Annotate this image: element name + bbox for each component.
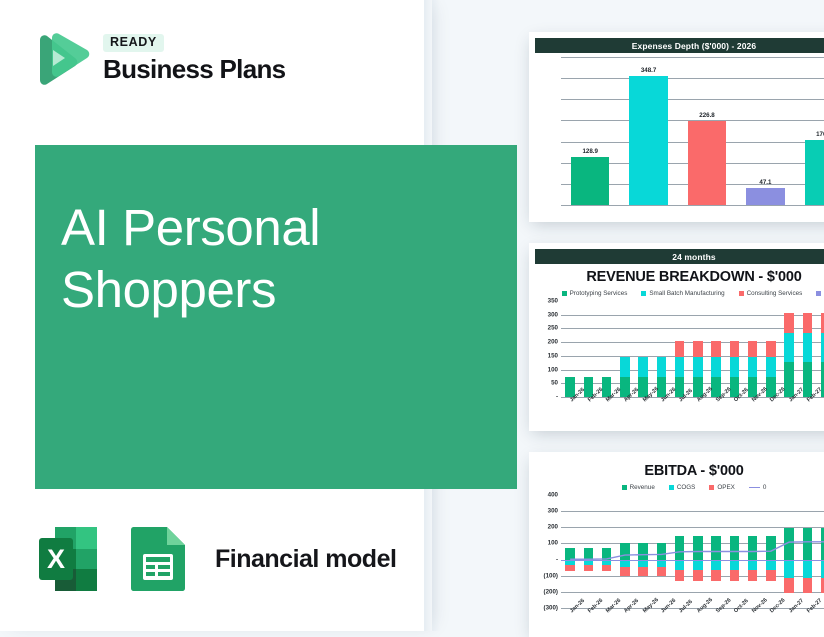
ready-badge: READY [103,34,164,52]
negative-stack [766,560,775,581]
bar-slot [744,301,762,397]
bar-segment [803,333,812,362]
chart-card-ebitda[interactable]: EBITDA - $'000 RevenueCOGSOPEX0 40030020… [529,452,824,637]
negative-stack [675,560,684,581]
bar-slot [817,301,824,397]
plot-area-expenses: 128.9348.7226.847.1176.5 [535,57,824,205]
legend-ebitda: RevenueCOGSOPEX0 [529,484,824,491]
bar-slot[interactable] [762,495,780,608]
legend-swatch [749,487,760,489]
gridline [561,205,824,206]
bar-segment [784,362,793,397]
bar-segment [730,536,739,559]
positive-stack [675,536,684,559]
bar-slot: 176.5 [795,57,824,205]
bar-segment [784,560,793,578]
bar-segment [784,578,793,593]
bar-slot [579,301,597,397]
y-axis-ebitda: 400300200100-(100)(200)(300) [535,495,561,608]
stacked-bar[interactable] [693,341,702,397]
negative-stack [657,560,666,576]
y-axis-tick: - [556,394,558,401]
legend-label: Prototyping Services [570,290,628,297]
positive-stack [748,536,757,559]
plot-area-revenue: 35030025020015010050- Jan-26Feb-26Mar-26… [535,301,824,397]
legend-item[interactable]: Small Batch Manufacturing [641,290,724,297]
bar-value-label: 348.7 [641,67,656,74]
financial-model-label: Financial model [215,545,396,574]
negative-stack [748,560,757,581]
bar-value-label: 176.5 [816,131,824,138]
bar-slot [798,301,816,397]
bar-segment [638,567,647,576]
chart-title-ebitda: EBITDA - $'000 [529,463,824,479]
brand-logo[interactable]: READY Business Plans [31,28,285,90]
legend-swatch [641,291,646,296]
bar-segment [693,357,702,377]
bar-segment [711,570,720,581]
bar-segment [657,357,666,377]
page-title: AI Personal Shoppers [61,197,501,321]
bar-segment [620,543,629,559]
bar-slot[interactable] [780,495,798,608]
svg-text:X: X [47,544,65,574]
bar-slot[interactable] [634,495,652,608]
bar-segment [711,341,720,357]
bar-slot [707,301,725,397]
bar-segment [784,528,793,559]
bar-segment [730,560,739,570]
bar-slot[interactable] [652,495,670,608]
bar-segment [748,536,757,559]
bar-slot[interactable] [671,495,689,608]
legend-revenue: Prototyping ServicesSmall Batch Manufact… [529,290,824,297]
y-axis-revenue: 35030025020015010050- [535,301,561,397]
bar-slot[interactable] [744,495,762,608]
bar-segment [638,357,647,377]
bar-segment [584,565,593,571]
bar-segment [766,536,775,559]
y-axis-tick: 50 [551,380,558,387]
positive-stack [584,548,593,560]
stacked-bar[interactable] [803,313,812,397]
positive-stack [620,543,629,559]
bar-segment [693,341,702,357]
positive-stack [693,536,702,559]
bar-slot: 226.8 [678,57,736,205]
bar-slot [762,301,780,397]
legend-swatch [709,485,714,490]
bar-slot[interactable] [817,495,824,608]
bar-segment [638,543,647,559]
bar-segment [748,357,757,377]
positive-stack [730,536,739,559]
positive-stack [565,548,574,560]
legend-item[interactable]: COGS [669,484,696,491]
bar-slot[interactable] [725,495,743,608]
legend-swatch [622,485,627,490]
bar-segment [620,567,629,576]
negative-stack [730,560,739,581]
bar-segment [730,341,739,357]
positive-stack [638,543,647,559]
stacked-bar[interactable] [675,341,684,397]
negative-stack [803,560,812,593]
bar-segment [657,567,666,576]
page-title-line2: Shoppers [61,259,501,321]
bar-slot [634,301,652,397]
bar-slot[interactable] [579,495,597,608]
positive-stack [784,528,793,559]
legend-swatch [669,485,674,490]
bar-segment [748,560,757,570]
hero-banner: AI Personal Shoppers [35,145,517,489]
negative-stack [565,560,574,572]
legend-item[interactable]: Consulting Services [739,290,803,297]
bar-slot [561,301,579,397]
bar-segment [620,357,629,377]
page-title-line1: AI Personal [61,197,501,259]
y-axis-tick: 150 [548,352,558,359]
legend-label: Consulting Services [747,290,803,297]
y-axis-tick: (200) [544,588,558,595]
bar-segment [748,341,757,357]
legend-item[interactable]: 0 [749,484,767,491]
bar[interactable]: 226.8 [688,121,727,205]
bar-slot: 47.1 [736,57,794,205]
legend-swatch [739,291,744,296]
x-axis-revenue: Jan-26Feb-26Mar-26Apr-26May-26Jun-26Jul-… [561,397,824,421]
bar-slot [689,301,707,397]
bar-segment [803,528,812,559]
bar-segment [766,570,775,581]
google-sheets-icon[interactable] [121,521,193,597]
positive-stack [766,536,775,559]
bar-segment [730,570,739,581]
bar-segment [766,357,775,377]
bar-segment [803,578,812,593]
chart-card-revenue[interactable]: 24 months REVENUE BREAKDOWN - $'000 Prot… [529,243,824,431]
bars-ebitda [561,495,824,608]
plot-area-ebitda: 400300200100-(100)(200)(300) Jan-26Feb-2… [535,495,824,608]
bar-segment [730,357,739,377]
bar-segment [766,560,775,570]
y-axis-tick: 350 [548,298,558,305]
y-axis-tick: (100) [544,572,558,579]
legend-item[interactable]: Prototyping Services [562,290,628,297]
bar-slot[interactable] [707,495,725,608]
legend-item[interactable]: - [816,290,824,297]
format-row: X Financial model [33,521,396,597]
bar-segment [711,560,720,570]
bar[interactable]: 176.5 [805,140,824,205]
bar-segment [565,548,574,560]
bar-slot [780,301,798,397]
bar-segment [675,341,684,357]
legend-label: COGS [677,484,696,491]
bar-slot[interactable] [689,495,707,608]
chart-header-revenue: 24 months [535,249,824,264]
bar-segment [748,570,757,581]
bar-segment [675,570,684,581]
bar-slot[interactable] [798,495,816,608]
negative-stack [584,560,593,572]
stacked-bar[interactable] [748,341,757,397]
negative-stack [711,560,720,581]
positive-stack [602,548,611,560]
positive-stack [803,528,812,559]
bar-segment [693,570,702,581]
bar[interactable]: 128.9 [571,157,610,205]
bars-expenses: 128.9348.7226.847.1176.5 [561,57,824,205]
bar-segment [675,357,684,377]
play-triangle-logo-icon [31,28,93,90]
chart-title-revenue: REVENUE BREAKDOWN - $'000 [529,269,824,285]
y-axis-tick: - [556,556,558,563]
positive-stack [711,536,720,559]
bar-value-label: 128.9 [582,148,597,155]
brand-name: Business Plans [103,56,285,83]
bar-segment [602,548,611,560]
negative-stack [784,560,793,593]
bar[interactable]: 348.7 [629,76,668,205]
bar-slot [652,301,670,397]
y-axis-tick: 300 [548,311,558,318]
bar-slot[interactable] [598,495,616,608]
negative-stack [693,560,702,581]
positive-stack [657,543,666,559]
bar-slot [598,301,616,397]
bar-segment [602,565,611,571]
bar-segment [675,560,684,570]
bar-slot [616,301,634,397]
legend-swatch [562,291,567,296]
bar-segment [693,560,702,570]
bar-slot [671,301,689,397]
bar-segment [565,565,574,571]
y-axis-tick: 200 [548,524,558,531]
bar-segment [766,341,775,357]
bar-segment [803,560,812,578]
bar[interactable]: 47.1 [746,188,785,205]
bar-slot [725,301,743,397]
bar-segment [675,536,684,559]
y-axis-tick: 100 [548,366,558,373]
bar-value-label: 47.1 [759,179,771,186]
y-axis-tick: (300) [544,605,558,612]
bar-segment [711,357,720,377]
chart-header-expenses: Expenses Depth ($'000) - 2026 [535,38,824,53]
legend-label: Small Batch Manufacturing [649,290,724,297]
y-axis-tick: 200 [548,339,558,346]
bar-segment [711,536,720,559]
bar-value-label: 226.8 [699,112,714,119]
legend-item[interactable]: OPEX [709,484,735,491]
legend-swatch [816,291,821,296]
y-axis-tick: 300 [548,508,558,515]
chart-card-expenses[interactable]: Expenses Depth ($'000) - 2026 128.9348.7… [529,32,824,222]
x-axis-ebitda: Jan-26Feb-26Mar-26Apr-26May-26Jun-26Jul-… [561,608,824,632]
bar-slot[interactable] [561,495,579,608]
bar-slot: 128.9 [561,57,619,205]
stacked-bar[interactable] [784,313,793,397]
negative-stack [602,560,611,572]
negative-stack [638,560,647,576]
bar-segment [584,548,593,560]
bar-segment [784,333,793,362]
bars-revenue [561,301,824,397]
bar-slot: 348.7 [619,57,677,205]
y-axis-tick: 400 [548,492,558,499]
legend-label: Revenue [630,484,655,491]
bar-slot[interactable] [616,495,634,608]
microsoft-excel-icon[interactable]: X [33,521,105,597]
zero-reference-line [561,560,824,561]
legend-label: 0 [763,484,767,491]
bar-segment [803,313,812,333]
y-axis-tick: 100 [548,540,558,547]
bar-segment [693,536,702,559]
negative-stack [620,560,629,576]
bar-segment [784,313,793,333]
bar-segment [657,543,666,559]
legend-item[interactable]: Revenue [622,484,655,491]
y-axis-tick: 250 [548,325,558,332]
legend-label: OPEX [717,484,735,491]
